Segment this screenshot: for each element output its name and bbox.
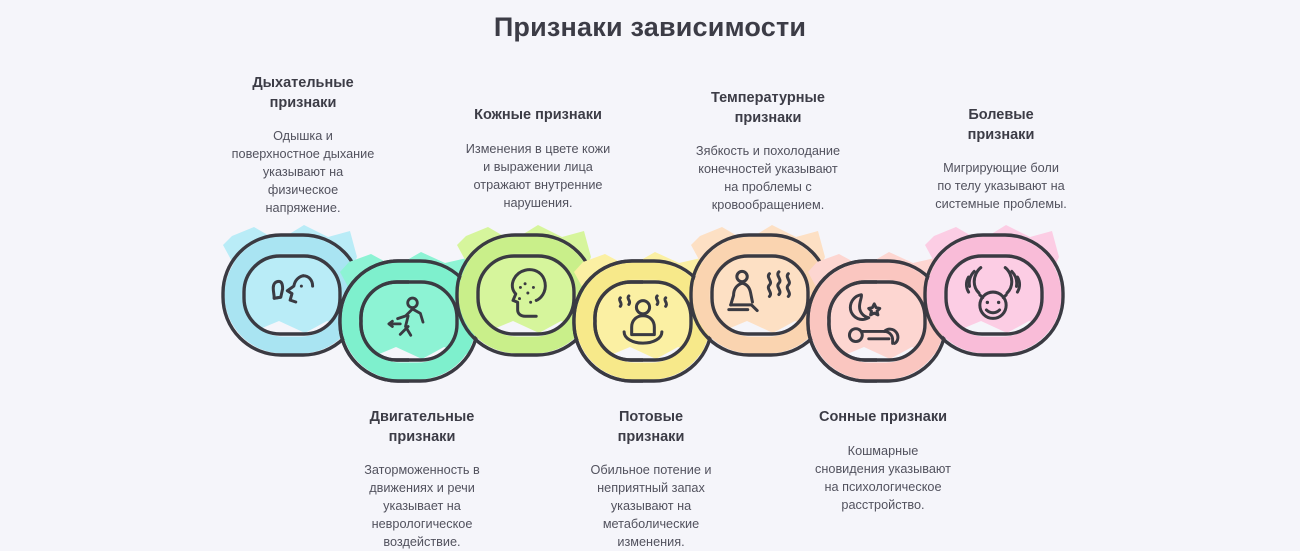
infographic-root: Признаки зависимости Дыхательные признак… [0, 0, 1300, 546]
chain-graphic [0, 0, 1300, 546]
chain-link-7 [925, 225, 1063, 355]
